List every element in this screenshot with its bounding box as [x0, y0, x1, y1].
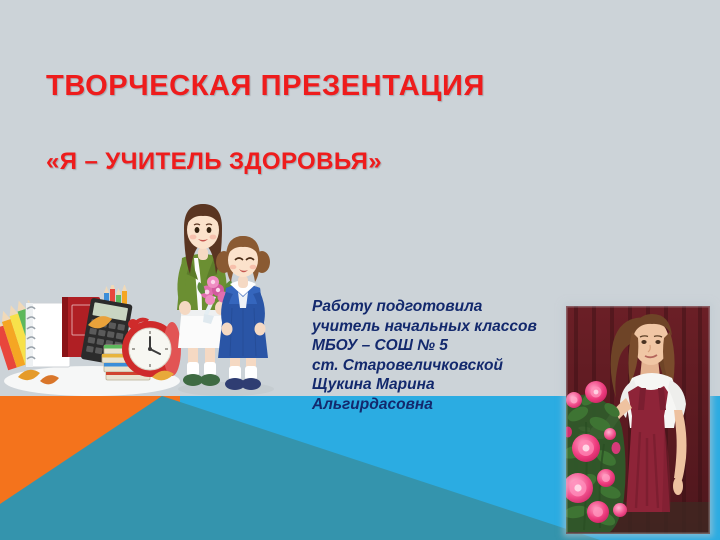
rose-flower — [613, 503, 627, 517]
author-credits: Работу подготовила учитель начальных кла… — [312, 297, 562, 415]
rose-bud — [612, 442, 621, 454]
author-line: Работу подготовила — [312, 297, 562, 317]
presentation-slide: Творческая презентация «Я – учитель здор… — [0, 0, 720, 540]
teacher-photo — [566, 306, 710, 534]
author-line: Щукина Марина — [312, 375, 562, 395]
page-subtitle: «Я – учитель здоровья» — [46, 148, 666, 176]
right-hand — [673, 477, 683, 495]
rose-flower — [585, 381, 607, 403]
author-line: Альгирдасовна — [312, 395, 562, 415]
author-line: учитель начальных классов — [312, 317, 562, 337]
rose-flower — [597, 469, 615, 487]
author-line: ст. Старовеличковской — [312, 356, 562, 376]
rose-flower — [587, 501, 609, 523]
rose-flower — [566, 392, 582, 408]
author-line: МБОУ – СОШ № 5 — [312, 336, 562, 356]
rose-flower — [604, 428, 616, 440]
school-supplies-illustration — [0, 285, 182, 397]
teacher-and-pupil-illustration — [160, 196, 292, 398]
pupil-figure — [216, 236, 270, 390]
rose-flower — [572, 434, 600, 462]
page-title: Творческая презентация — [46, 70, 666, 103]
